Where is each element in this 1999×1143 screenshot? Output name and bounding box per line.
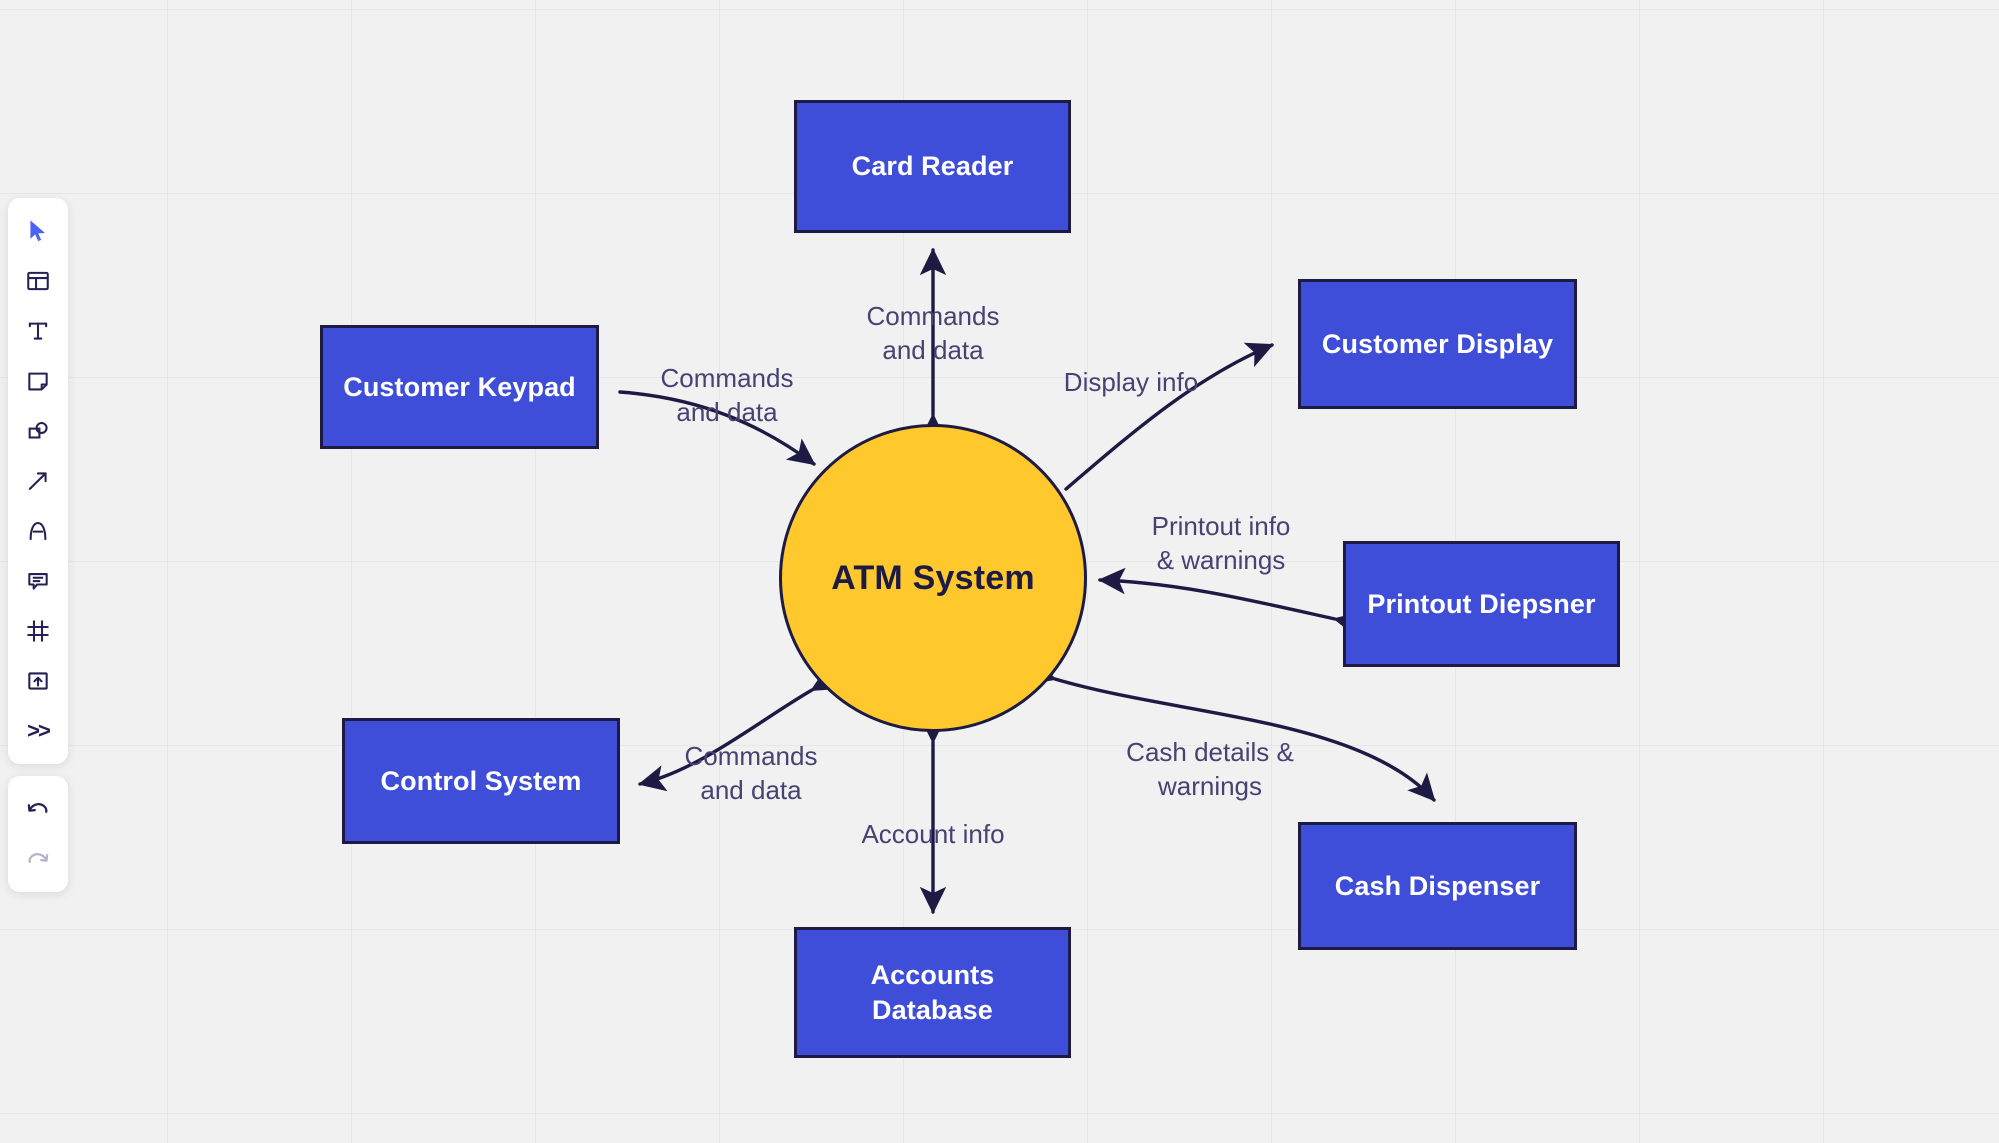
edge-label-control-system: Commands and data bbox=[631, 740, 871, 808]
edge-label-customer-keypad: Commands and data bbox=[607, 362, 847, 430]
edge-label-cash-dispenser: Cash details & warnings bbox=[1090, 736, 1330, 804]
node-atm-system-label: ATM System bbox=[831, 559, 1035, 598]
text-tool[interactable] bbox=[12, 306, 64, 356]
upload-tool[interactable] bbox=[12, 656, 64, 706]
edge-cash-dispenser bbox=[1055, 679, 1434, 800]
node-cash-dispenser-label: Cash Dispenser bbox=[1335, 869, 1540, 904]
node-atm-system[interactable]: ATM System bbox=[779, 424, 1087, 732]
edge-label-printout: Printout info & warnings bbox=[1096, 510, 1346, 578]
node-customer-keypad[interactable]: Customer Keypad bbox=[320, 325, 599, 449]
left-toolbar: >> bbox=[8, 198, 68, 892]
edge-label-customer-display: Display info bbox=[1031, 366, 1231, 400]
edge-printout bbox=[1100, 580, 1335, 619]
more-tools-button[interactable]: >> bbox=[12, 706, 64, 756]
redo-button[interactable] bbox=[12, 834, 64, 884]
node-customer-display[interactable]: Customer Display bbox=[1298, 279, 1577, 409]
node-customer-keypad-label: Customer Keypad bbox=[343, 370, 576, 405]
node-printout-diepsner[interactable]: Printout Diepsner bbox=[1343, 541, 1620, 667]
node-card-reader-label: Card Reader bbox=[852, 149, 1014, 184]
node-control-system[interactable]: Control System bbox=[342, 718, 620, 844]
comment-tool[interactable] bbox=[12, 556, 64, 606]
connector-tool[interactable] bbox=[12, 456, 64, 506]
undo-button[interactable] bbox=[12, 784, 64, 834]
shapes-tool[interactable] bbox=[12, 406, 64, 456]
sticky-note-tool[interactable] bbox=[12, 356, 64, 406]
tool-group-primary: >> bbox=[8, 198, 68, 764]
node-printout-diepsner-label: Printout Diepsner bbox=[1367, 587, 1595, 622]
tool-group-history bbox=[8, 776, 68, 892]
node-customer-display-label: Customer Display bbox=[1322, 327, 1553, 362]
node-control-system-label: Control System bbox=[381, 764, 582, 799]
frame-tool[interactable] bbox=[12, 256, 64, 306]
crop-frame-tool[interactable] bbox=[12, 606, 64, 656]
edge-label-card-reader: Commands and data bbox=[813, 300, 1053, 368]
edge-customer-display bbox=[1066, 345, 1272, 489]
diagram-canvas: ATM System Card Reader Customer Keypad C… bbox=[0, 0, 1999, 1143]
node-cash-dispenser[interactable]: Cash Dispenser bbox=[1298, 822, 1577, 950]
node-accounts-database-label: Accounts Database bbox=[871, 958, 995, 1027]
node-accounts-database[interactable]: Accounts Database bbox=[794, 927, 1071, 1058]
edge-control-system bbox=[640, 690, 812, 784]
pen-compass-tool[interactable] bbox=[12, 506, 64, 556]
edge-label-accounts-database: Account info bbox=[833, 818, 1033, 852]
select-tool[interactable] bbox=[12, 206, 64, 256]
edge-customer-keypad bbox=[620, 392, 814, 464]
more-tools-label: >> bbox=[27, 718, 49, 744]
node-card-reader[interactable]: Card Reader bbox=[794, 100, 1071, 233]
